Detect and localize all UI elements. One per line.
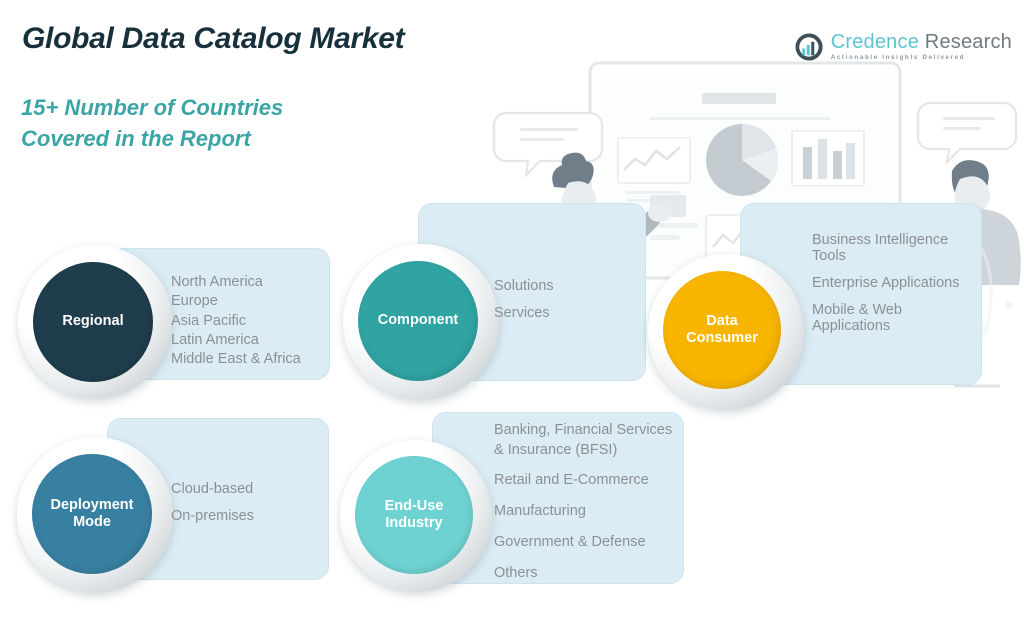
list-item: Banking, Financial Services & Insurance …	[494, 421, 684, 460]
card-data-consumer-list: Business Intelligence Tools Enterprise A…	[812, 232, 978, 334]
subtitle-line-2: Covered in the Report	[21, 123, 283, 154]
logo-tagline: Actionable Insights Delivered	[831, 55, 1012, 61]
card-component-list: Solutions Services	[494, 278, 554, 321]
list-item: Government & Defense	[494, 533, 684, 553]
card-deployment-mode-circle[interactable]: Deployment Mode	[32, 454, 152, 574]
list-item: North America	[171, 273, 301, 292]
brand-logo: Credence Research Actionable Insights De…	[794, 32, 1012, 62]
list-item: Europe	[171, 292, 301, 311]
card-regional-list: North America Europe Asia Pacific Latin …	[171, 273, 301, 369]
logo-name-primary: Credence	[831, 31, 919, 53]
list-item: Cloud-based	[171, 481, 254, 497]
card-deployment-mode-list: Cloud-based On-premises	[171, 481, 254, 524]
list-item: Business Intelligence Tools	[812, 232, 978, 264]
card-deployment-mode-label-line-1: Deployment	[51, 497, 134, 514]
card-end-use-industry-label-line-1: End-Use	[385, 498, 444, 515]
list-item: Middle East & Africa	[171, 350, 301, 369]
list-item: On-premises	[171, 508, 254, 524]
list-item: Latin America	[171, 331, 301, 350]
bar-chart-circle-icon	[794, 32, 824, 62]
card-component-circle[interactable]: Component	[358, 261, 478, 381]
card-regional-label: Regional	[62, 313, 123, 330]
card-component-label: Component	[378, 312, 459, 329]
logo-name-secondary: Research	[925, 31, 1012, 53]
speech-bubble-right	[918, 103, 1016, 162]
list-item: Manufacturing	[494, 502, 684, 522]
list-item: Others	[494, 564, 684, 584]
card-data-consumer-label-line-1: Data	[706, 313, 737, 330]
list-item: Retail and E-Commerce	[494, 471, 684, 491]
card-end-use-industry-list: Banking, Financial Services & Insurance …	[494, 421, 684, 583]
list-item: Services	[494, 305, 554, 321]
list-item: Mobile & Web Applications	[812, 302, 978, 334]
infographic-canvas: Global Data Catalog Market 15+ Number of…	[0, 0, 1024, 641]
page-subtitle: 15+ Number of Countries Covered in the R…	[21, 92, 283, 154]
card-data-consumer-label-line-2: Consumer	[686, 330, 758, 347]
card-data-consumer-circle[interactable]: Data Consumer	[663, 271, 781, 389]
card-end-use-industry-circle[interactable]: End-Use Industry	[355, 456, 473, 574]
card-regional-circle[interactable]: Regional	[33, 262, 153, 382]
speech-bubble-left	[494, 113, 602, 175]
card-deployment-mode-label-line-2: Mode	[73, 514, 111, 531]
list-item: Solutions	[494, 278, 554, 294]
list-item: Enterprise Applications	[812, 275, 978, 291]
list-item: Asia Pacific	[171, 312, 301, 331]
subtitle-line-1: 15+ Number of Countries	[21, 92, 283, 123]
card-end-use-industry-label-line-2: Industry	[385, 515, 442, 532]
page-title: Global Data Catalog Market	[22, 22, 404, 56]
